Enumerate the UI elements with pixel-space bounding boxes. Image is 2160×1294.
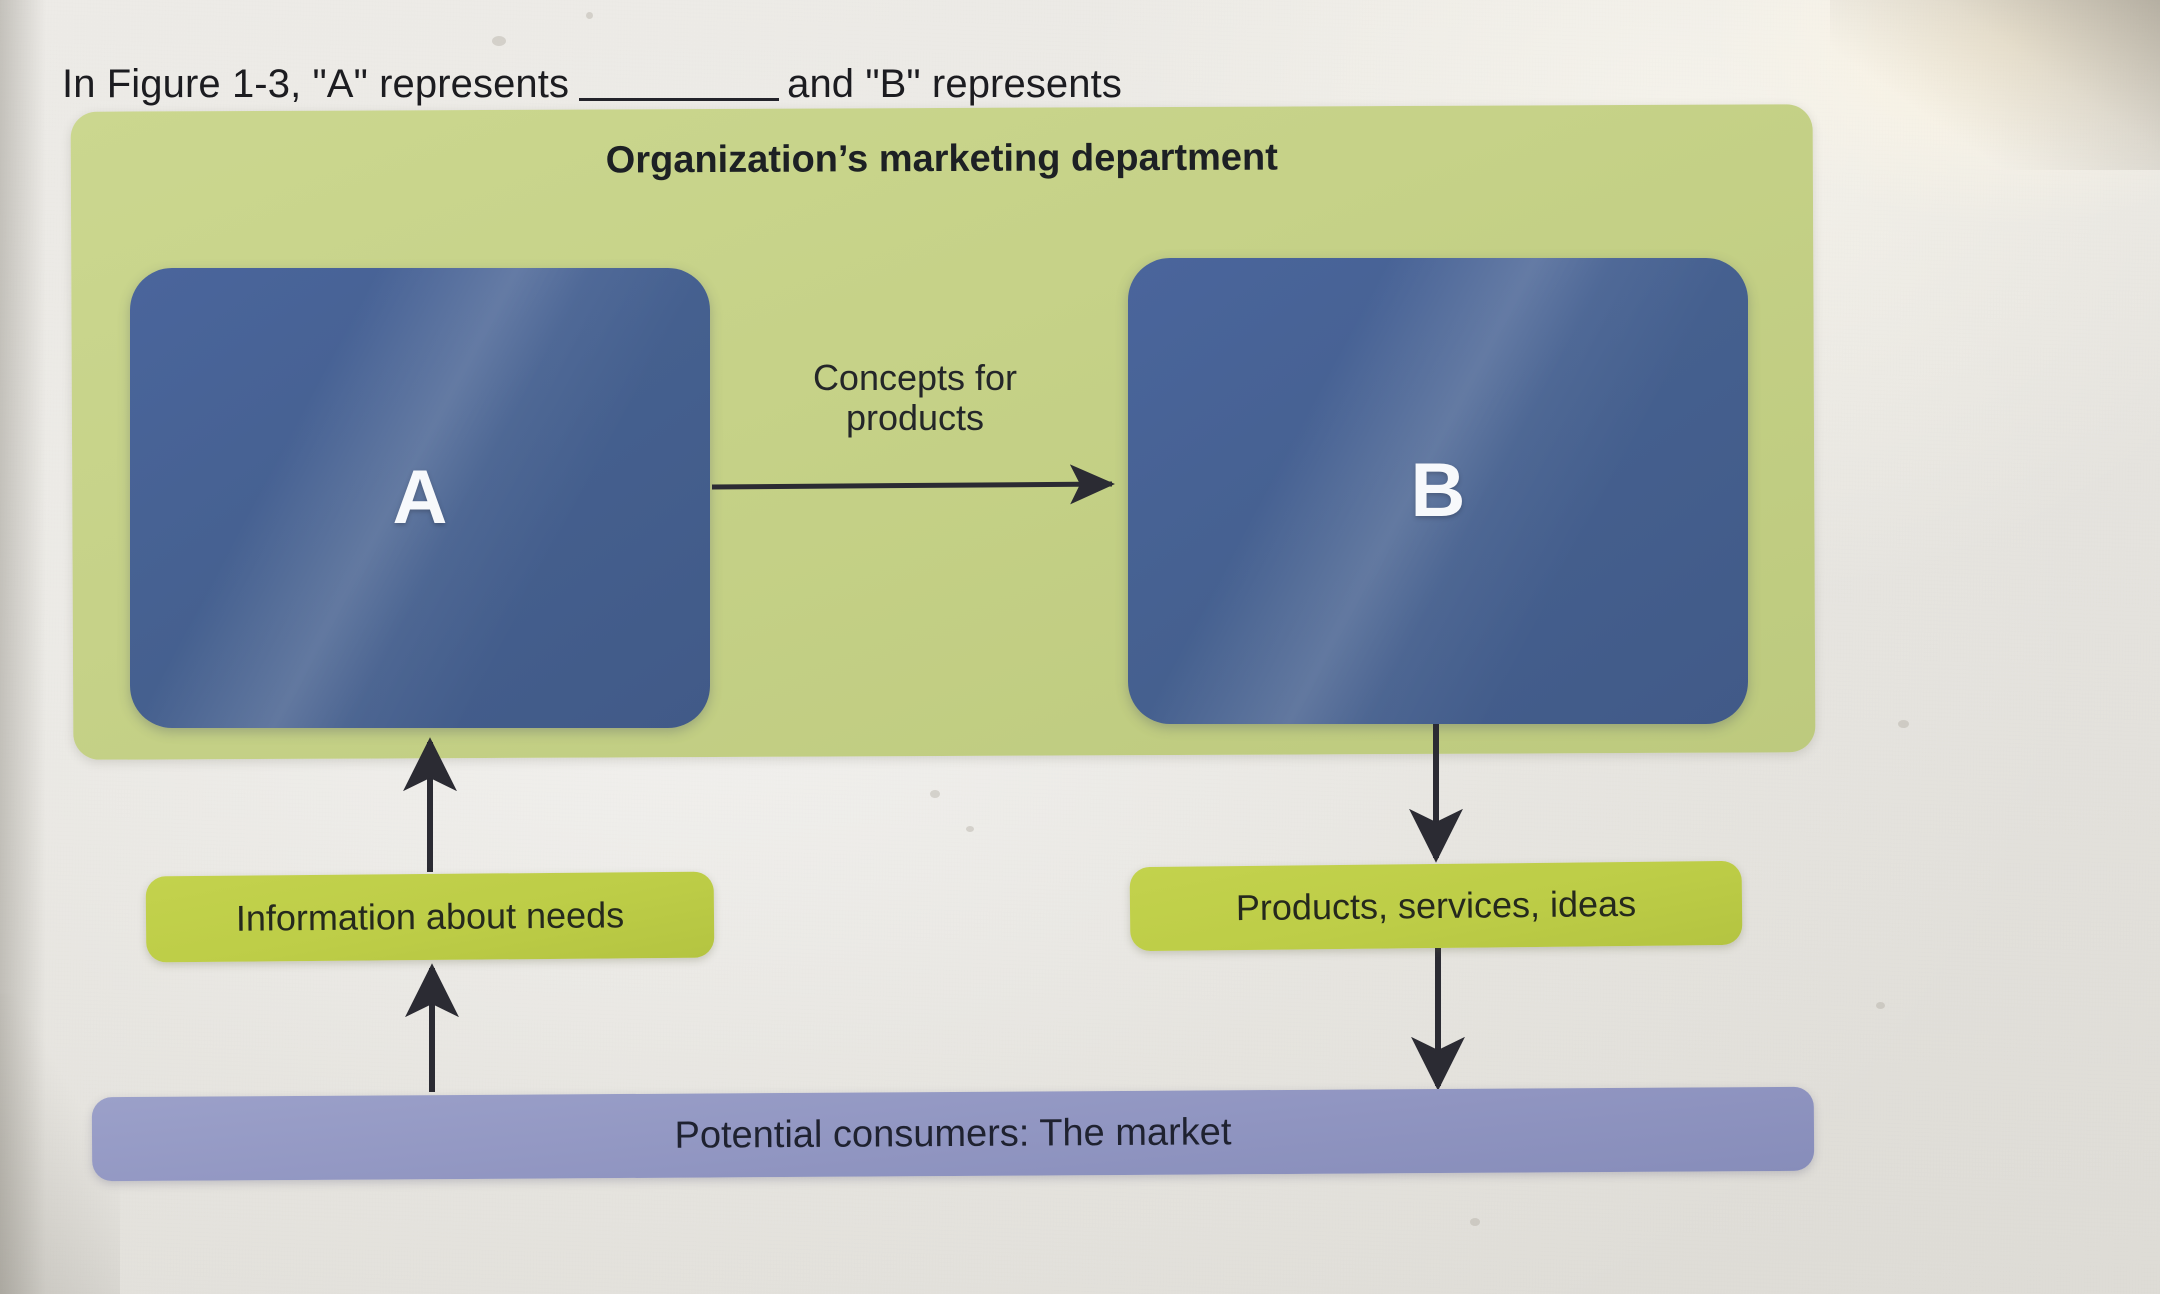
question-prefix: In Figure 1-3, "A" represents (62, 62, 569, 106)
dust-speck (1876, 1002, 1885, 1009)
panel-title: Organization’s marketing department (71, 134, 1813, 185)
dust-speck (1898, 720, 1909, 728)
potential-consumers-bar: Potential consumers: The market (92, 1087, 1814, 1182)
dust-speck (492, 36, 506, 46)
pill-right-label: Products, services, ideas (1236, 883, 1637, 929)
answer-blank (579, 98, 779, 101)
dust-speck (966, 826, 974, 832)
flow-label-line-1: Concepts for (770, 358, 1060, 398)
flow-label-line-2: products (770, 398, 1060, 438)
pill-left-label: Information about needs (236, 894, 625, 939)
bottom-bar-label: Potential consumers: The market (674, 1111, 1231, 1157)
pill-information-about-needs: Information about needs (146, 872, 715, 963)
flow-label-concepts-for-products: Concepts for products (770, 358, 1060, 439)
dust-speck (586, 12, 593, 19)
question-suffix: and "B" represents (787, 62, 1122, 106)
dust-speck (1470, 1218, 1480, 1226)
pill-products-services-ideas: Products, services, ideas (1130, 861, 1743, 951)
box-a-label: A (393, 460, 448, 536)
box-b: B (1128, 258, 1748, 724)
question-prompt: In Figure 1-3, "A" representsand "B" rep… (62, 62, 1362, 107)
dust-speck (930, 790, 940, 798)
top-right-corner-shadow (1830, 0, 2160, 170)
box-a: A (130, 268, 710, 728)
box-b-label: B (1411, 453, 1466, 529)
